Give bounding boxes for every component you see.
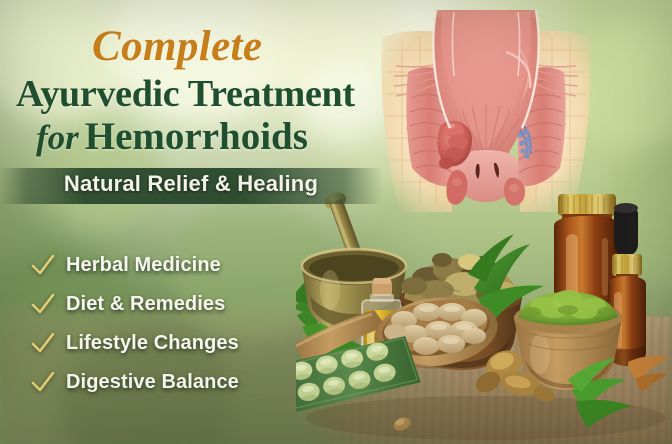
headline-word-complete: Complete (92, 22, 262, 71)
headline-word-hemorrhoids: Hemorrhoids (85, 115, 308, 158)
green-powder-bowl (514, 290, 622, 390)
list-item-label: Diet & Remedies (66, 293, 225, 316)
list-item-label: Herbal Medicine (66, 254, 221, 277)
benefit-list: Herbal Medicine Diet & Remedies Lifestyl… (30, 246, 330, 402)
headline-text-column: Complete Ayurvedic Treatment forHemorrho… (0, 0, 380, 444)
ayurvedic-hemorrhoid-treatment-banner: Complete Ayurvedic Treatment forHemorrho… (0, 0, 672, 444)
turmeric-root (628, 356, 668, 392)
headline-line-for-hemorrhoids: forHemorrhoids (36, 114, 308, 159)
check-icon (30, 253, 56, 279)
check-icon (30, 370, 56, 396)
list-item: Diet & Remedies (30, 285, 330, 324)
check-icon (30, 331, 56, 357)
list-item: Digestive Balance (30, 363, 330, 402)
list-item: Lifestyle Changes (30, 324, 330, 363)
check-icon (30, 292, 56, 318)
list-item: Herbal Medicine (30, 246, 330, 285)
headline-word-for: for (36, 118, 85, 157)
headline-line-ayurvedic-treatment: Ayurvedic Treatment (16, 72, 355, 116)
list-item-label: Digestive Balance (66, 371, 239, 394)
list-item-label: Lifestyle Changes (66, 332, 239, 355)
subtitle-text: Natural Relief & Healing (0, 171, 382, 197)
